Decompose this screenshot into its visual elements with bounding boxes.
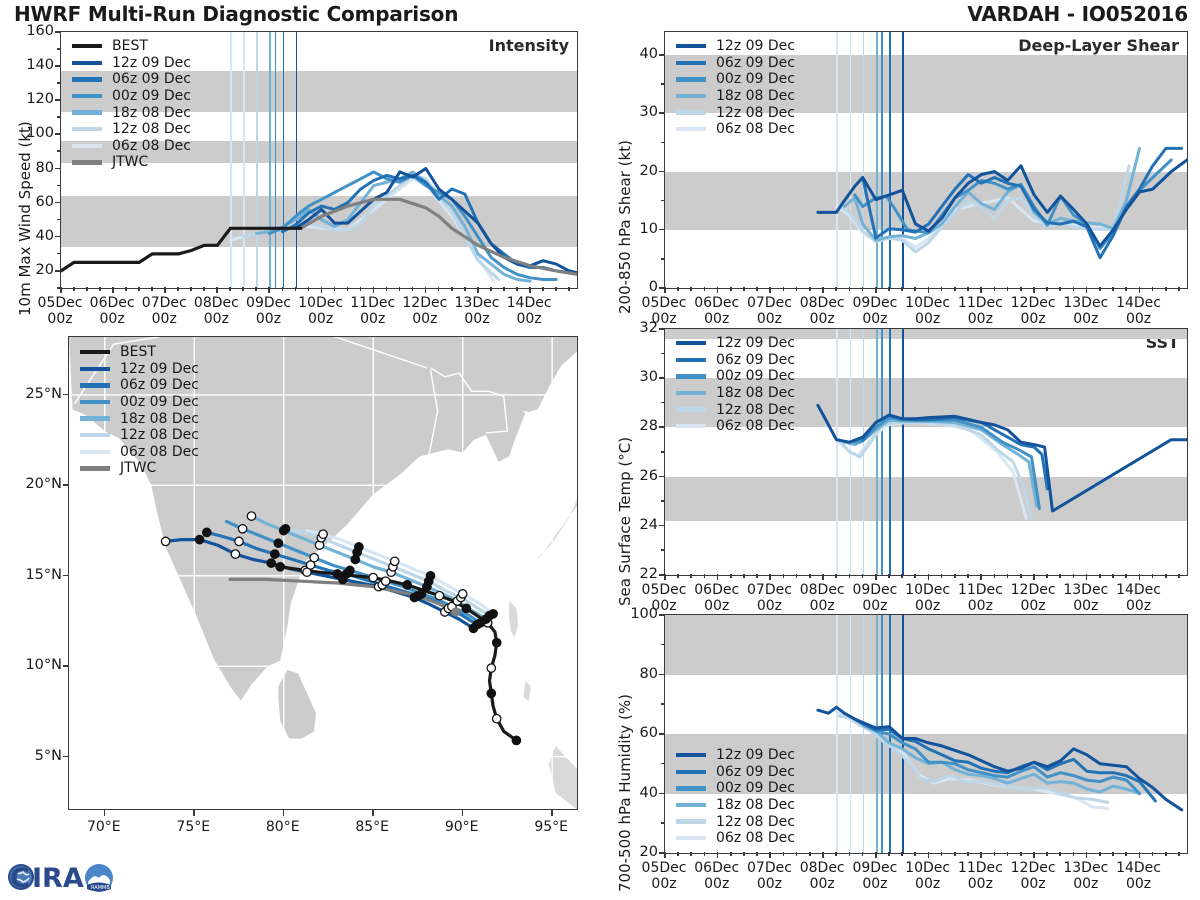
x-tick-minor (1073, 574, 1075, 578)
x-tick-mark (112, 287, 114, 293)
track-marker (462, 604, 470, 612)
x-tick-minor (177, 287, 179, 291)
x-tick-minor (677, 574, 679, 578)
legend-label: 12z 08 Dec (716, 402, 795, 418)
y-tick-label: 30 (620, 104, 658, 120)
map-y-tick-label: 5°N (12, 748, 62, 764)
x-tick-minor (888, 287, 890, 291)
x-tick-mark (980, 852, 982, 858)
x-tick-minor (308, 287, 310, 291)
x-tick-minor (849, 287, 851, 291)
x-tick-minor (994, 574, 996, 578)
y-tick-label: 28 (620, 418, 658, 434)
x-tick-minor (295, 287, 297, 291)
legend-item: 12z 08 Dec (676, 813, 795, 830)
x-tick-minor (503, 287, 505, 291)
cira-logo-graphic: C IRA RAMMB (6, 856, 118, 898)
legend-item: 18z 08 Dec (676, 88, 795, 105)
x-tick-mark (1033, 574, 1035, 580)
legend-label: 06z 08 Dec (120, 444, 199, 460)
x-tick-minor (862, 574, 864, 578)
x-tick-minor (347, 287, 349, 291)
x-tick-minor (1046, 852, 1048, 856)
panel-sst: Sea Surface Temp (°C) 222426283032 SST 0… (600, 324, 1200, 616)
track-marker (489, 610, 497, 618)
rh-legend: 12z 09 Dec06z 09 Dec00z 09 Dec18z 08 Dec… (676, 747, 795, 847)
x-tick-mark (928, 852, 930, 858)
x-tick-minor (849, 574, 851, 578)
x-tick-minor (967, 574, 969, 578)
x-tick-minor (1020, 574, 1022, 578)
x-tick-label: 14Dec00z (1107, 582, 1171, 614)
y-tick-label: 0 (620, 279, 658, 295)
x-tick-minor (994, 287, 996, 291)
map-x-tick-label: 90°E (427, 819, 497, 835)
legend-item: 18z 08 Dec (72, 104, 191, 121)
x-tick-minor (1020, 852, 1022, 856)
x-tick-minor (1046, 287, 1048, 291)
x-tick-mark (373, 287, 375, 293)
x-tick-minor (901, 852, 903, 856)
x-tick-minor (399, 287, 401, 291)
x-tick-label: 14Dec00z (497, 295, 561, 327)
legend-item: 06z 08 Dec (676, 121, 795, 138)
y-tick-label: 30 (620, 369, 658, 385)
diagnostic-comparison-page: HWRF Multi-Run Diagnostic Comparison VAR… (0, 0, 1200, 900)
legend-label: 06z 09 Dec (112, 71, 191, 87)
x-tick-minor (756, 287, 758, 291)
x-tick-minor (690, 574, 692, 578)
x-tick-minor (1007, 287, 1009, 291)
legend-item: 00z 09 Dec (676, 71, 795, 88)
y-tick-label: 22 (620, 566, 658, 582)
x-tick-minor (743, 574, 745, 578)
x-tick-minor (704, 852, 706, 856)
x-tick-minor (783, 574, 785, 578)
y-tick-label: 10 (620, 221, 658, 237)
x-tick-minor (1125, 574, 1127, 578)
track-legend: BEST12z 09 Dec06z 09 Dec00z 09 Dec18z 08… (80, 344, 199, 477)
legend-label: 06z 09 Dec (716, 352, 795, 368)
x-tick-minor (954, 287, 956, 291)
x-tick-minor (730, 287, 732, 291)
legend-item: 18z 08 Dec (80, 410, 199, 427)
legend-item: 06z 08 Dec (72, 138, 191, 155)
x-tick-minor (783, 287, 785, 291)
x-tick-minor (862, 287, 864, 291)
y-tick-label: 100 (16, 125, 54, 141)
x-tick-mark (664, 574, 666, 580)
x-tick-minor (1112, 574, 1114, 578)
y-tick-label: 40 (620, 46, 658, 62)
y-tick-label: 24 (620, 517, 658, 533)
legend-label: 12z 08 Dec (120, 427, 199, 443)
x-tick-minor (967, 852, 969, 856)
x-tick-minor (386, 287, 388, 291)
intensity-y-axis-label: 10m Max Wind Speed (kt) (16, 121, 34, 316)
x-tick-minor (203, 287, 205, 291)
map-y-tick-label: 20°N (12, 476, 62, 492)
track-marker (319, 530, 327, 538)
series-line-best (61, 228, 301, 271)
x-tick-mark (477, 287, 479, 293)
x-tick-mark (928, 287, 930, 293)
legend-label: 12z 08 Dec (716, 105, 795, 121)
legend-item: 12z 09 Dec (676, 38, 795, 55)
legend-label: 06z 09 Dec (120, 377, 199, 393)
page-title-right: VARDAH - IO052016 (967, 2, 1188, 26)
legend-item: JTWC (80, 460, 199, 477)
legend-label: 18z 08 Dec (716, 797, 795, 813)
x-tick-mark (1086, 574, 1088, 580)
x-tick-minor (967, 287, 969, 291)
x-tick-minor (86, 287, 88, 291)
track-marker (161, 537, 169, 545)
legend-label: 12z 09 Dec (120, 361, 199, 377)
series-line-12z-09-dec (296, 169, 578, 273)
jtwc-start-marker (451, 607, 460, 616)
x-tick-minor (138, 287, 140, 291)
x-tick-minor (783, 852, 785, 856)
legend-swatch (676, 44, 706, 48)
legend-item: 12z 09 Dec (80, 361, 199, 378)
x-tick-mark (769, 287, 771, 293)
x-tick-mark (60, 287, 62, 293)
x-tick-hour: 00z (1107, 598, 1171, 614)
map-y-tick-label: 15°N (12, 567, 62, 583)
x-tick-minor (1099, 574, 1101, 578)
x-tick-mark (769, 852, 771, 858)
x-tick-minor (360, 287, 362, 291)
x-tick-minor (730, 574, 732, 578)
x-tick-mark (875, 287, 877, 293)
legend-label: BEST (120, 344, 156, 360)
legend-label: 18z 08 Dec (120, 411, 199, 427)
legend-swatch (676, 77, 706, 81)
x-tick-minor (901, 574, 903, 578)
series-line-12z-09-dec (818, 160, 1187, 246)
x-tick-minor (888, 574, 890, 578)
legend-item: 00z 09 Dec (676, 368, 795, 385)
legend-item: 18z 08 Dec (676, 797, 795, 814)
legend-swatch (80, 433, 110, 437)
map-x-tick-label: 75°E (158, 819, 228, 835)
x-tick-label: 14Dec00z (1107, 860, 1171, 892)
legend-swatch (72, 94, 102, 98)
y-tick-label: 60 (16, 194, 54, 210)
x-tick-minor (954, 574, 956, 578)
legend-swatch (80, 400, 110, 404)
legend-swatch (72, 110, 102, 114)
legend-label: 06z 09 Dec (716, 55, 795, 71)
y-tick-label: 120 (16, 91, 54, 107)
x-tick-minor (743, 852, 745, 856)
legend-label: 00z 09 Dec (120, 394, 199, 410)
legend-swatch (72, 44, 102, 48)
legend-label: 00z 09 Dec (716, 780, 795, 796)
x-tick-minor (849, 852, 851, 856)
x-tick-label: 14Dec00z (1107, 295, 1171, 327)
panel-track: 5°N10°N15°N20°N25°N Track 70°E75°E80°E85… (0, 332, 590, 862)
legend-swatch (676, 786, 706, 790)
legend-swatch (80, 450, 110, 454)
legend-item: 06z 09 Dec (676, 55, 795, 72)
legend-swatch (676, 374, 706, 378)
x-tick-minor (1112, 287, 1114, 291)
y-tick-label: 20 (16, 262, 54, 278)
legend-label: 00z 09 Dec (716, 368, 795, 384)
legend-label: 12z 09 Dec (716, 747, 795, 763)
y-tick-label: 160 (16, 23, 54, 39)
legend-swatch (676, 341, 706, 345)
legend-swatch (80, 367, 110, 371)
legend-item: JTWC (72, 154, 191, 171)
x-tick-minor (994, 852, 996, 856)
x-tick-mark (1033, 287, 1035, 293)
y-tick-label: 40 (620, 785, 658, 801)
landmass-andaman (509, 601, 518, 637)
track-marker (281, 525, 289, 533)
legend-label: JTWC (112, 154, 148, 170)
track-marker (195, 535, 203, 543)
x-tick-mark (216, 287, 218, 293)
panel-rh: 700-500 hPa Humidity (%) 20406080100 Mid… (600, 614, 1200, 900)
x-tick-minor (1073, 852, 1075, 856)
x-tick-day: 14Dec (497, 295, 561, 311)
legend-item: 12z 08 Dec (676, 401, 795, 418)
legend-item: 06z 08 Dec (676, 418, 795, 435)
x-tick-minor (1165, 574, 1167, 578)
x-tick-minor (1165, 287, 1167, 291)
track-marker (493, 715, 501, 723)
x-tick-minor (1073, 287, 1075, 291)
x-tick-mark (1139, 574, 1141, 580)
legend-label: 12z 08 Dec (716, 814, 795, 830)
y-tick-label: 80 (16, 160, 54, 176)
legend-swatch (676, 110, 706, 114)
legend-item: 06z 08 Dec (676, 830, 795, 847)
x-tick-mark (1086, 287, 1088, 293)
legend-item: BEST (80, 344, 199, 361)
track-marker (355, 543, 363, 551)
panel-intensity: 10m Max Wind Speed (kt) 2040608010012014… (0, 26, 590, 326)
x-tick-minor (1152, 574, 1154, 578)
map-x-tick-label: 70°E (69, 819, 139, 835)
legend-item: 12z 09 Dec (676, 747, 795, 764)
y-tick-label: 100 (620, 606, 658, 622)
track-marker (369, 573, 377, 581)
track-marker (417, 590, 425, 598)
x-tick-minor (941, 852, 943, 856)
x-tick-minor (1099, 287, 1101, 291)
map-x-tick-mark (372, 810, 374, 816)
x-tick-minor (555, 287, 557, 291)
track-marker (493, 639, 501, 647)
x-tick-minor (1152, 852, 1154, 856)
y-tick-label: 20 (620, 163, 658, 179)
track-marker (235, 537, 243, 545)
track-marker (426, 572, 434, 580)
x-tick-mark (980, 574, 982, 580)
x-tick-minor (796, 287, 798, 291)
legend-swatch (676, 424, 706, 428)
map-x-tick-mark (283, 810, 285, 816)
legend-item: 12z 08 Dec (72, 121, 191, 138)
x-tick-minor (568, 287, 570, 291)
y-tick-label: 80 (620, 666, 658, 682)
track-marker (382, 577, 390, 585)
x-tick-minor (282, 287, 284, 291)
legend-swatch (676, 836, 706, 840)
x-tick-minor (862, 852, 864, 856)
x-tick-mark (1139, 287, 1141, 293)
legend-item: 12z 09 Dec (676, 335, 795, 352)
legend-label: 12z 09 Dec (716, 335, 795, 351)
legend-swatch (80, 416, 110, 420)
series-line-00z-09-dec (855, 719, 1140, 793)
x-tick-minor (835, 287, 837, 291)
svg-text:C: C (10, 863, 30, 894)
x-tick-minor (704, 574, 706, 578)
x-tick-day: 14Dec (1107, 582, 1171, 598)
legend-item: 12z 09 Dec (72, 55, 191, 72)
track-marker (346, 566, 354, 574)
x-tick-mark (875, 852, 877, 858)
legend-swatch (72, 127, 102, 131)
legend-item: BEST (72, 38, 191, 55)
x-tick-minor (438, 287, 440, 291)
y-tick-label: 26 (620, 468, 658, 484)
x-tick-minor (334, 287, 336, 291)
x-tick-minor (796, 852, 798, 856)
legend-label: 12z 09 Dec (716, 38, 795, 54)
y-tick-label: 20 (620, 844, 658, 860)
cira-logo: C IRA RAMMB (6, 856, 118, 898)
country-border-3 (524, 411, 579, 449)
track-marker (487, 664, 495, 672)
x-tick-minor (1007, 852, 1009, 856)
x-tick-minor (914, 287, 916, 291)
x-tick-mark (980, 287, 982, 293)
y-tick-label: 32 (620, 320, 658, 336)
svg-text:IRA: IRA (32, 863, 84, 894)
x-tick-minor (1059, 574, 1061, 578)
x-tick-minor (677, 852, 679, 856)
legend-swatch (676, 94, 706, 98)
x-tick-minor (954, 852, 956, 856)
x-tick-minor (242, 287, 244, 291)
x-tick-minor (704, 287, 706, 291)
x-tick-mark (875, 574, 877, 580)
x-tick-mark (268, 287, 270, 293)
x-tick-minor (1046, 574, 1048, 578)
legend-item: 06z 09 Dec (72, 71, 191, 88)
track-marker (203, 528, 211, 536)
x-tick-minor (690, 852, 692, 856)
legend-label: JTWC (120, 460, 156, 476)
x-tick-minor (255, 287, 257, 291)
series-line-06z-09-dec (863, 724, 1156, 801)
track-marker (403, 581, 411, 589)
x-tick-minor (542, 287, 544, 291)
track-marker (512, 736, 520, 744)
x-tick-mark (425, 287, 427, 293)
map-x-tick-label: 85°E (337, 819, 407, 835)
legend-label: 12z 08 Dec (112, 121, 191, 137)
x-tick-minor (1059, 287, 1061, 291)
x-tick-minor (901, 287, 903, 291)
map-x-tick-label: 95°E (516, 819, 586, 835)
legend-label: 18z 08 Dec (716, 385, 795, 401)
legend-label: 06z 09 Dec (716, 764, 795, 780)
legend-swatch (676, 61, 706, 65)
track-marker (435, 592, 443, 600)
x-tick-minor (1125, 287, 1127, 291)
landmass-myanmar-coast (536, 494, 578, 559)
map-y-tick-label: 25°N (12, 386, 62, 402)
track-marker (487, 689, 495, 697)
map-x-tick-label: 80°E (248, 819, 318, 835)
legend-item: 00z 09 Dec (72, 88, 191, 105)
x-tick-hour: 00z (497, 311, 561, 327)
x-tick-minor (914, 574, 916, 578)
x-tick-mark (717, 287, 719, 293)
x-tick-minor (1112, 852, 1114, 856)
x-tick-minor (1020, 287, 1022, 291)
x-tick-mark (1086, 852, 1088, 858)
legend-label: 00z 09 Dec (112, 88, 191, 104)
x-tick-minor (796, 574, 798, 578)
legend-swatch (676, 803, 706, 807)
series-line-12z-09-dec (818, 707, 1182, 810)
legend-label: 06z 08 Dec (716, 418, 795, 434)
x-tick-minor (1099, 852, 1101, 856)
x-tick-mark (1139, 852, 1141, 858)
legend-swatch (676, 753, 706, 757)
x-tick-mark (717, 852, 719, 858)
legend-swatch (676, 127, 706, 131)
x-tick-minor (1165, 852, 1167, 856)
landmass-nicobar (524, 681, 531, 701)
x-tick-minor (690, 287, 692, 291)
x-tick-minor (151, 287, 153, 291)
legend-label: 12z 09 Dec (112, 55, 191, 71)
track-marker (391, 557, 399, 565)
map-x-tick-mark (193, 810, 195, 816)
track-marker (247, 512, 255, 520)
x-tick-mark (664, 287, 666, 293)
x-tick-minor (809, 574, 811, 578)
x-tick-minor (412, 287, 414, 291)
x-tick-minor (677, 287, 679, 291)
legend-item: 06z 08 Dec (80, 444, 199, 461)
track-marker (267, 559, 275, 567)
y-tick-label: 40 (16, 228, 54, 244)
legend-label: 06z 08 Dec (716, 121, 795, 137)
cira-logo-sub: RAMMB (91, 885, 110, 891)
legend-swatch (676, 819, 706, 823)
legend-item: 06z 09 Dec (80, 377, 199, 394)
legend-item: 00z 09 Dec (676, 780, 795, 797)
legend-label: 00z 09 Dec (716, 71, 795, 87)
legend-item: 18z 08 Dec (676, 385, 795, 402)
x-tick-minor (1178, 287, 1180, 291)
x-tick-minor (190, 287, 192, 291)
x-tick-minor (888, 852, 890, 856)
x-tick-minor (490, 287, 492, 291)
legend-swatch (676, 391, 706, 395)
x-tick-minor (516, 287, 518, 291)
